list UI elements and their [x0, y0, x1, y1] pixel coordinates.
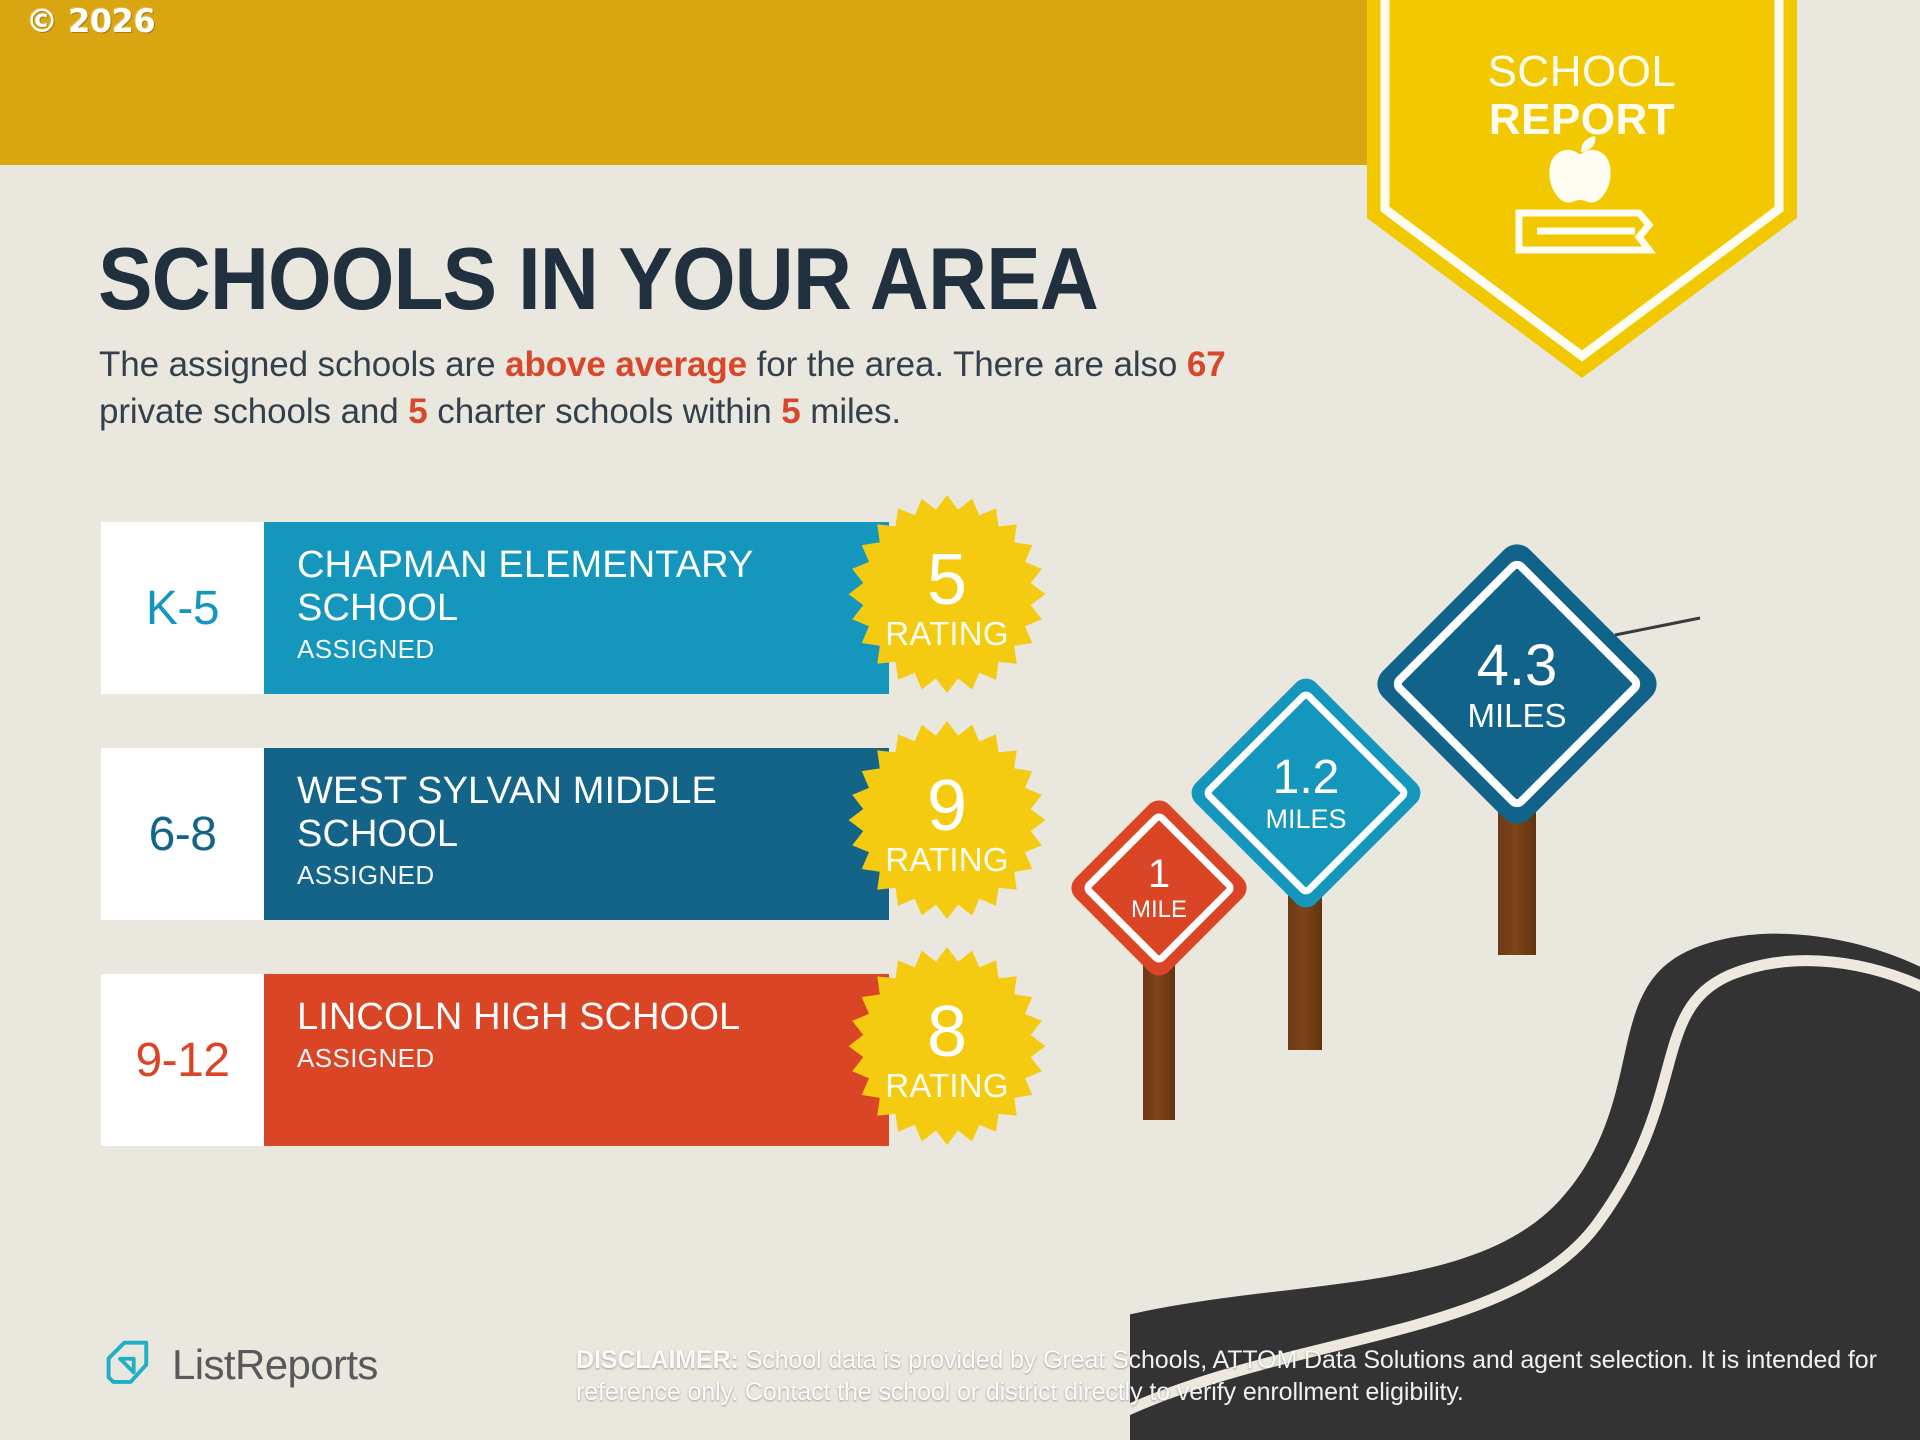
subtitle-highlight-charter-count: 5 — [408, 392, 427, 431]
school-grade-label: 9-12 — [135, 1033, 229, 1088]
disclaimer-label: DISCLAIMER: — [576, 1346, 739, 1374]
school-rating-badge: 5 RATING — [841, 494, 1053, 706]
subtitle-text-2: for the area. There are also — [747, 345, 1187, 384]
school-bar: CHAPMAN ELEMENTARY SCHOOL ASSIGNED — [264, 522, 889, 694]
school-bar: WEST SYLVAN MIDDLE SCHOOL ASSIGNED — [264, 748, 889, 920]
school-name: CHAPMAN ELEMENTARY SCHOOL — [297, 544, 857, 630]
school-rating-badge: 8 RATING — [841, 946, 1053, 1158]
disclaimer-text: DISCLAIMER: School data is provided by G… — [576, 1344, 1886, 1408]
subtitle-highlight-rating: above average — [505, 345, 747, 384]
school-report-badge: SCHOOL REPORT — [1367, 0, 1797, 380]
school-status: ASSIGNED — [297, 634, 889, 665]
road-illustration: 1 MILE 1.2 MILES — [1130, 560, 1920, 1440]
school-row[interactable]: 9-12 LINCOLN HIGH SCHOOL ASSIGNED 8 RATI… — [101, 974, 1061, 1146]
school-report-infographic: 1 MILE 1.2 MILES — [0, 0, 1920, 1440]
starburst-shape — [841, 720, 1053, 932]
school-grade-box: 9-12 — [101, 974, 264, 1146]
school-status: ASSIGNED — [297, 1043, 889, 1074]
subtitle-text-1: The assigned schools are — [99, 345, 505, 384]
page-title: SCHOOLS IN YOUR AREA — [98, 228, 1098, 330]
school-grade-box: 6-8 — [101, 748, 264, 920]
subtitle-text-5: miles. — [801, 392, 901, 431]
starburst-shape — [841, 494, 1053, 706]
header-bar — [0, 0, 1378, 165]
school-bar: LINCOLN HIGH SCHOOL ASSIGNED — [264, 974, 889, 1146]
school-row[interactable]: 6-8 WEST SYLVAN MIDDLE SCHOOL ASSIGNED 9… — [101, 748, 1061, 920]
school-name: LINCOLN HIGH SCHOOL — [297, 996, 857, 1039]
subtitle-highlight-radius: 5 — [781, 392, 800, 431]
school-grade-box: K-5 — [101, 522, 264, 694]
badge-shape — [1367, 0, 1797, 380]
copyright-watermark: © 2026 — [26, 2, 155, 40]
disclaimer-body: School data is provided by Great Schools… — [576, 1346, 1877, 1406]
subtitle: The assigned schools are above average f… — [99, 342, 1329, 435]
school-row[interactable]: K-5 CHAPMAN ELEMENTARY SCHOOL ASSIGNED 5… — [101, 522, 1061, 694]
school-rating-badge: 9 RATING — [841, 720, 1053, 932]
school-grade-label: 6-8 — [149, 807, 217, 862]
listreports-logo-text: ListReports — [172, 1341, 378, 1389]
distance-sign-3: 4.3 MILES — [1315, 485, 1715, 935]
starburst-shape — [841, 946, 1053, 1158]
listreports-house-tag-icon — [104, 1338, 158, 1392]
school-grade-label: K-5 — [146, 581, 219, 636]
subtitle-text-3: private schools and — [99, 392, 408, 431]
subtitle-highlight-private-count: 67 — [1187, 345, 1226, 384]
school-list: K-5 CHAPMAN ELEMENTARY SCHOOL ASSIGNED 5… — [101, 522, 1061, 1200]
school-name: WEST SYLVAN MIDDLE SCHOOL — [297, 770, 857, 856]
subtitle-text-4: charter schools within — [428, 392, 782, 431]
school-status: ASSIGNED — [297, 860, 889, 891]
listreports-logo[interactable]: ListReports — [104, 1338, 378, 1392]
